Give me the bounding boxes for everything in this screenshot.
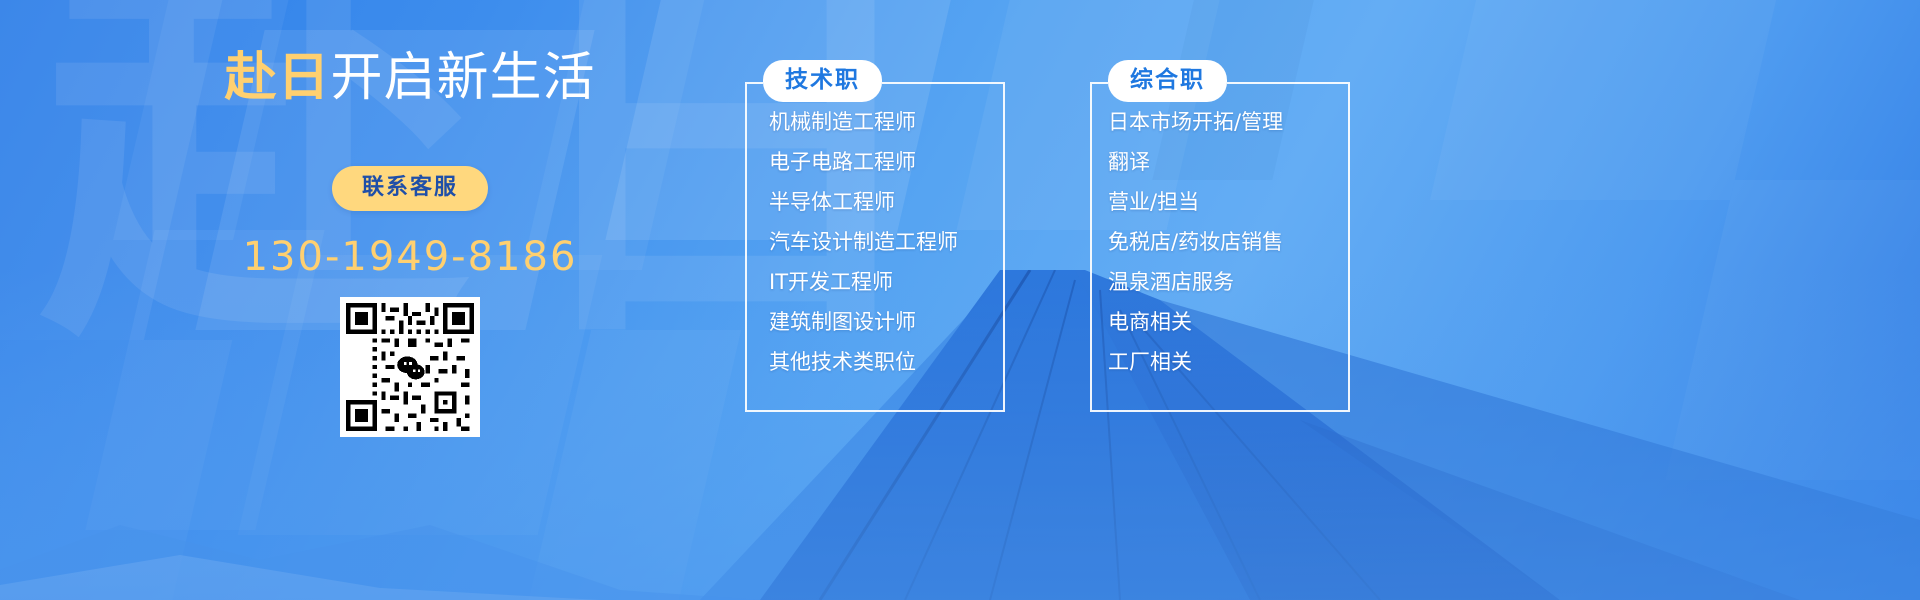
- job-panel-general: 综合职 日本市场开拓/管理 翻译 营业/担当 免税店/药妆店销售 温泉酒店服务 …: [1090, 60, 1350, 412]
- decor-slab: [1665, 180, 1920, 480]
- job-panel-technical: 技术职 机械制造工程师 电子电路工程师 半导体工程师 汽车设计制造工程师 IT开…: [745, 60, 1005, 412]
- contact-service-button[interactable]: 联系客服: [332, 166, 488, 211]
- list-item[interactable]: IT开发工程师: [769, 272, 958, 293]
- list-item[interactable]: 电商相关: [1108, 312, 1283, 333]
- list-item[interactable]: 机械制造工程师: [769, 112, 958, 133]
- page-title: 赴日开启新生活: [150, 40, 670, 104]
- left-content-column: 赴日开启新生活 联系客服 130-1949-8186: [150, 40, 670, 437]
- phone-number[interactable]: 130-1949-8186: [150, 237, 670, 277]
- list-item[interactable]: 翻译: [1108, 152, 1283, 173]
- list-item[interactable]: 电子电路工程师: [769, 152, 958, 173]
- list-item[interactable]: 营业/担当: [1108, 192, 1283, 213]
- promo-banner: 赴日: [0, 0, 1920, 600]
- panel-badge-general: 综合职: [1108, 60, 1227, 102]
- job-list-technical: 机械制造工程师 电子电路工程师 半导体工程师 汽车设计制造工程师 IT开发工程师…: [769, 112, 958, 392]
- qr-code-icon: [346, 303, 474, 431]
- list-item[interactable]: 汽车设计制造工程师: [769, 232, 958, 253]
- list-item[interactable]: 半导体工程师: [769, 192, 958, 213]
- headline-rest: 开启新生活: [331, 48, 596, 108]
- wechat-qr-code[interactable]: [340, 297, 480, 437]
- list-item[interactable]: 免税店/药妆店销售: [1108, 232, 1283, 253]
- list-item[interactable]: 工厂相关: [1108, 352, 1283, 373]
- job-list-general: 日本市场开拓/管理 翻译 营业/担当 免税店/药妆店销售 温泉酒店服务 电商相关…: [1108, 112, 1283, 392]
- list-item[interactable]: 温泉酒店服务: [1108, 272, 1283, 293]
- headline-highlight: 赴日: [224, 48, 330, 108]
- decor-slab: [1430, 0, 1790, 200]
- list-item[interactable]: 日本市场开拓/管理: [1108, 112, 1283, 133]
- panel-badge-technical: 技术职: [763, 60, 882, 102]
- list-item[interactable]: 建筑制图设计师: [769, 312, 958, 333]
- list-item[interactable]: 其他技术类职位: [769, 352, 958, 373]
